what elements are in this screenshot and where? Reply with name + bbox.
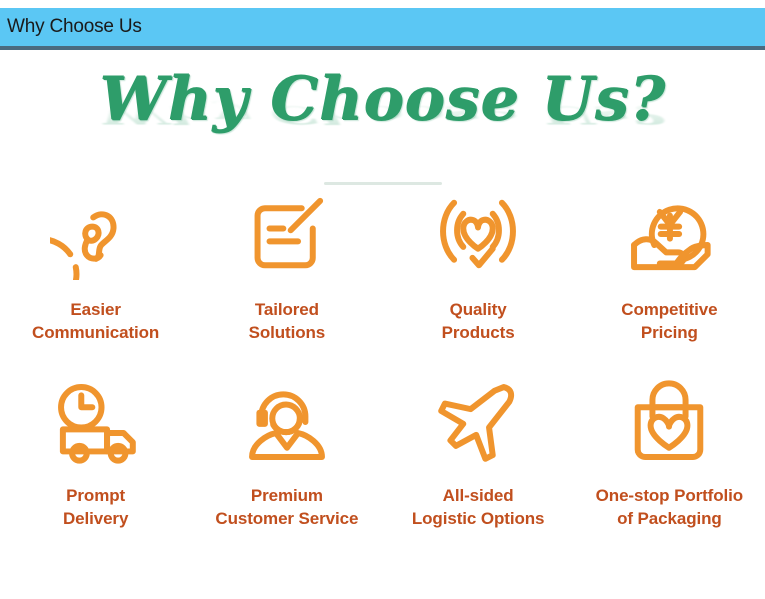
window-title: Why Choose Us <box>7 16 142 38</box>
feature-label: Competitive Pricing <box>621 298 717 344</box>
page-content: Why Choose Us? Why Choose Us? Easier Com… <box>0 50 765 595</box>
hand-yen-coin-icon <box>621 186 717 282</box>
feature-label: Quality Products <box>442 298 515 344</box>
feature-label: One-stop Portfolio of Packaging <box>596 484 743 530</box>
page-title: Why Choose Us? <box>99 62 665 136</box>
ear-listening-circle-icon <box>48 186 144 282</box>
feature-label: Prompt Delivery <box>63 484 128 530</box>
shopping-bag-heart-icon <box>621 376 717 468</box>
headset-agent-icon <box>239 376 335 468</box>
truck-clock-delivery-icon <box>48 376 144 468</box>
feature-card-tailored-solutions[interactable]: Tailored Solutions <box>191 186 382 376</box>
feature-card-prompt-delivery[interactable]: Prompt Delivery <box>0 376 191 566</box>
heart-signal-check-icon <box>430 186 526 282</box>
document-pencil-edit-icon <box>239 186 335 282</box>
feature-card-quality-products[interactable]: Quality Products <box>383 186 574 376</box>
feature-label: All-sided Logistic Options <box>412 484 545 530</box>
feature-card-one-stop-portfolio-of-packaging[interactable]: One-stop Portfolio of Packaging <box>574 376 765 566</box>
feature-label: Premium Customer Service <box>215 484 358 530</box>
airplane-icon <box>430 376 526 468</box>
feature-card-competitive-pricing[interactable]: Competitive Pricing <box>574 186 765 376</box>
feature-card-easier-communication[interactable]: Easier Communication <box>0 186 191 376</box>
hero-section: Why Choose Us? Why Choose Us? <box>0 50 765 152</box>
feature-card-all-sided-logistic-options[interactable]: All-sided Logistic Options <box>383 376 574 566</box>
window-titlebar: Why Choose Us <box>0 8 765 50</box>
feature-grid: Easier Communication Tailored Solutions <box>0 186 765 566</box>
feature-label: Easier Communication <box>32 298 159 344</box>
feature-card-premium-customer-service[interactable]: Premium Customer Service <box>191 376 382 566</box>
title-divider <box>324 182 442 185</box>
feature-label: Tailored Solutions <box>249 298 326 344</box>
